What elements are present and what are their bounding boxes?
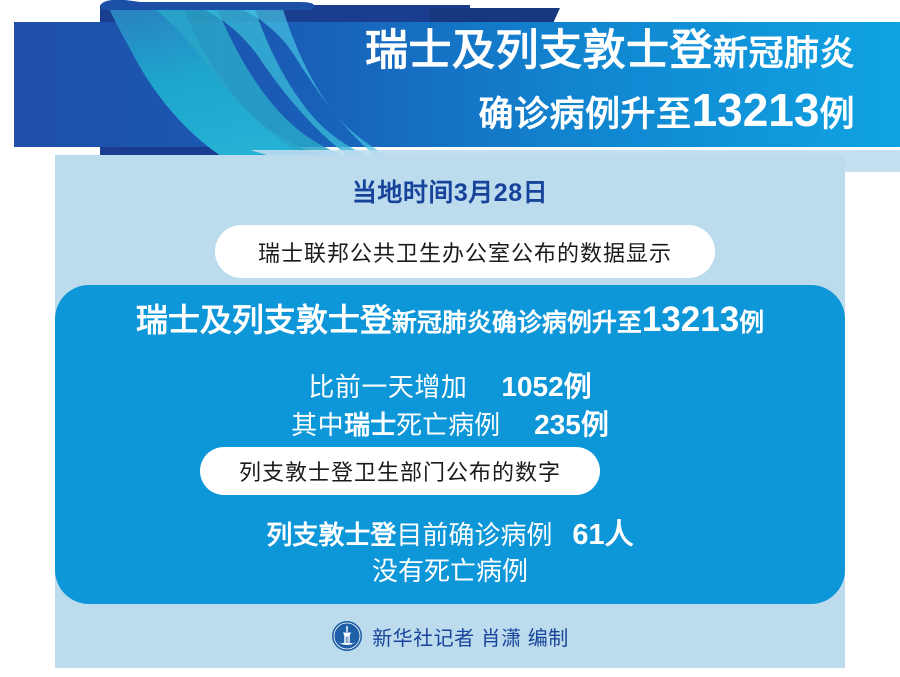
source-pill-liechtenstein: 列支敦士登卫生部门公布的数字 — [200, 447, 600, 495]
stat-row-daily-increase-label: 比前一天增加 — [308, 372, 467, 402]
footer-credit: 新华社记者 肖潇 编制 — [55, 620, 845, 652]
header-title-line-1: 瑞士及列支敦士登新冠肺炎 — [210, 26, 855, 77]
source-pill-swiss: 瑞士联邦公共卫生办公室公布的数据显示 — [215, 225, 715, 278]
header-title-unit: 例 — [819, 95, 855, 134]
statistics-block: 瑞士及列支敦士登新冠肺炎确诊病例升至13213例 比前一天增加1052例 其中瑞… — [55, 285, 845, 604]
stat-row-swiss-deaths-value: 235例 — [534, 409, 609, 440]
stat-row-daily-increase-value: 1052例 — [501, 371, 591, 402]
header-title-line-2: 确诊病例升至13213例 — [210, 83, 855, 137]
source-pill-liechtenstein-label: 列支敦士登卫生部门公布的数字 — [239, 455, 561, 487]
ribbon-top-lip — [100, 0, 314, 10]
footer-credit-text: 新华社记者 肖潇 编制 — [372, 622, 569, 651]
stat-row-liechtenstein-deaths: 没有死亡病例 — [55, 551, 845, 588]
headline-unit: 例 — [739, 309, 764, 337]
headline-number: 13213 — [642, 300, 739, 339]
stat-row-liechtenstein-cases: 列支敦士登目前确诊病例61人 — [55, 511, 845, 553]
date-label: 当地时间3月28日 — [55, 173, 845, 209]
stat-row-liechtenstein-country: 列支敦士登 — [266, 520, 396, 550]
stat-row-swiss-deaths-label-tail: 死亡病例 — [396, 410, 500, 440]
stat-row-swiss-deaths: 其中瑞士死亡病例235例 — [55, 403, 845, 443]
headline-country: 瑞士及列支敦士登 — [136, 302, 392, 338]
source-pill-swiss-label: 瑞士联邦公共卫生办公室公布的数据显示 — [258, 236, 672, 268]
header-title-disease: 新冠肺炎 — [713, 34, 855, 73]
header-title-lead: 确诊病例升至 — [479, 95, 692, 134]
stat-row-swiss-deaths-label-head: 其中 — [291, 410, 344, 440]
stat-row-swiss-deaths-country: 瑞士 — [344, 410, 396, 440]
headline-mid: 新冠肺炎确诊病例升至 — [392, 309, 642, 337]
header-title: 瑞士及列支敦士登新冠肺炎 确诊病例升至13213例 — [210, 26, 880, 137]
header-title-country: 瑞士及列支敦士登 — [365, 27, 713, 75]
content-panel: 当地时间3月28日 瑞士联邦公共卫生办公室公布的数据显示 瑞士及列支敦士登新冠肺… — [55, 155, 845, 668]
header-banner: 瑞士及列支敦士登新冠肺炎 确诊病例升至13213例 — [0, 0, 900, 155]
headline-row: 瑞士及列支敦士登新冠肺炎确诊病例升至13213例 — [55, 295, 845, 341]
stat-row-daily-increase: 比前一天增加1052例 — [55, 365, 845, 405]
stat-row-liechtenstein-label: 目前确诊病例 — [396, 520, 552, 550]
stat-row-liechtenstein-value: 61人 — [572, 519, 633, 551]
header-title-number: 13213 — [692, 84, 820, 136]
xinhua-agency-logo-icon — [331, 620, 363, 652]
